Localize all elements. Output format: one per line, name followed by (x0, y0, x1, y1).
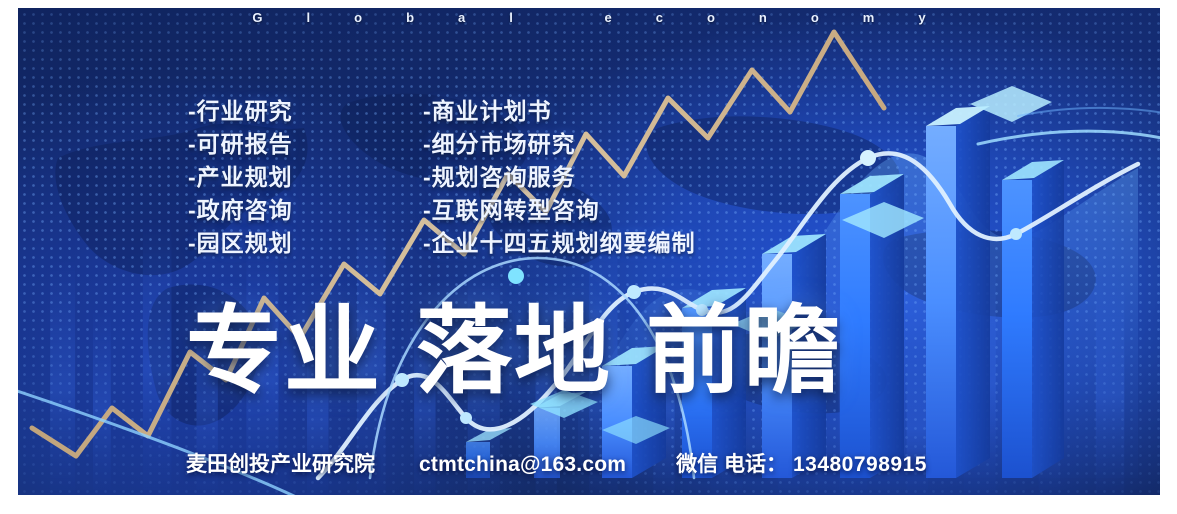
headline-word-2: 落地 (416, 298, 612, 405)
service-item: -企业十四五规划纲要编制 (423, 228, 696, 258)
organization-name: 麦田创投产业研究院 (186, 448, 375, 478)
service-item: -规划咨询服务 (423, 162, 696, 192)
headline: 专业落地前瞻 (186, 304, 842, 400)
services-right-column: -商业计划书 -细分市场研究 -规划咨询服务 -互联网转型咨询 -企业十四五规划… (423, 96, 696, 261)
service-item: -园区规划 (188, 228, 293, 258)
service-item: -互联网转型咨询 (423, 195, 696, 225)
kicker-text: Global economy (18, 10, 1160, 25)
services-left-column: -行业研究 -可研报告 -产业规划 -政府咨询 -园区规划 (188, 96, 293, 261)
headline-word-3: 前瞻 (646, 298, 842, 405)
service-item: -可研报告 (188, 129, 293, 159)
service-item: -细分市场研究 (423, 129, 696, 159)
service-item: -商业计划书 (423, 96, 696, 126)
service-item: -行业研究 (188, 96, 293, 126)
marketing-banner: Global economy -行业研究 -可研报告 -产业规划 -政府咨询 -… (18, 8, 1160, 495)
phone-number[interactable]: 13480798915 (793, 453, 927, 477)
contact-label: 微信 电话： (676, 448, 787, 478)
email-address[interactable]: ctmtchina@163.com (419, 453, 626, 477)
service-item: -产业规划 (188, 162, 293, 192)
service-item: -政府咨询 (188, 195, 293, 225)
headline-word-1: 专业 (186, 298, 382, 405)
arc-node-marker (508, 268, 524, 284)
footer-contact-bar: 麦田创投产业研究院ctmtchina@163.com微信 电话：13480798… (186, 448, 927, 478)
